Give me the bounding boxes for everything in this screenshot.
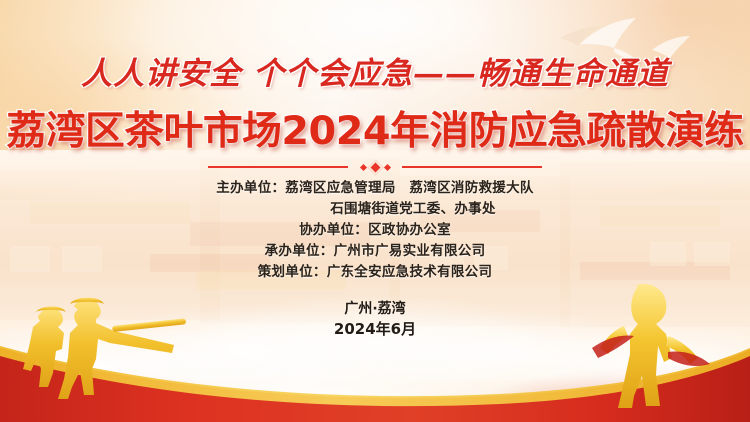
divider-line-left [208,166,348,168]
organizer-value: 荔湾区应急管理局 荔湾区消防救援大队 [285,180,533,196]
poster-canvas: 人人讲安全 个个会应急——畅通生命通道 荔湾区茶叶市场2024年消防应急疏散演练… [0,0,750,422]
divider-dot-right [383,163,390,170]
poster-date: 2024年6月 [0,318,750,340]
divider-dot-left [359,163,366,170]
divider-line-right [402,166,542,168]
poster-place: 广州·荔湾 [0,298,750,320]
organizer-value: 广东全安应急技术有限公司 [327,264,493,280]
organizer-label: 承办单位： [265,243,334,259]
organizer-value: 广州市广易实业有限公司 [334,243,486,259]
organizer-line: 承办单位：广州市广易实业有限公司 [0,241,750,262]
divider-diamond [367,159,383,175]
organizer-label: 策划单位： [258,264,327,280]
organizer-block: 主办单位：荔湾区应急管理局 荔湾区消防救援大队 石围塘街道党工委、办事处 协办单… [0,178,750,283]
poster-main-title: 荔湾区茶叶市场2024年消防应急疏散演练 [0,100,750,156]
organizer-value: 区政协办公室 [368,222,451,238]
decorative-divider [0,158,750,176]
diamond-ornament-icon [348,159,402,175]
organizer-line: 策划单位：广东全安应急技术有限公司 [0,262,750,283]
organizer-value: 石围塘街道党工委、办事处 [330,201,496,217]
poster-slogan: 人人讲安全 个个会应急——畅通生命通道 [0,48,750,93]
organizer-label: 主办单位： [216,180,285,196]
poster-content: 人人讲安全 个个会应急——畅通生命通道 荔湾区茶叶市场2024年消防应急疏散演练… [0,0,750,422]
organizer-line: 主办单位：荔湾区应急管理局 荔湾区消防救援大队 [0,178,750,199]
organizer-line: 石围塘街道党工委、办事处 [0,199,750,220]
organizer-label: 协办单位： [299,222,368,238]
organizer-line: 协办单位：区政协办公室 [0,220,750,241]
